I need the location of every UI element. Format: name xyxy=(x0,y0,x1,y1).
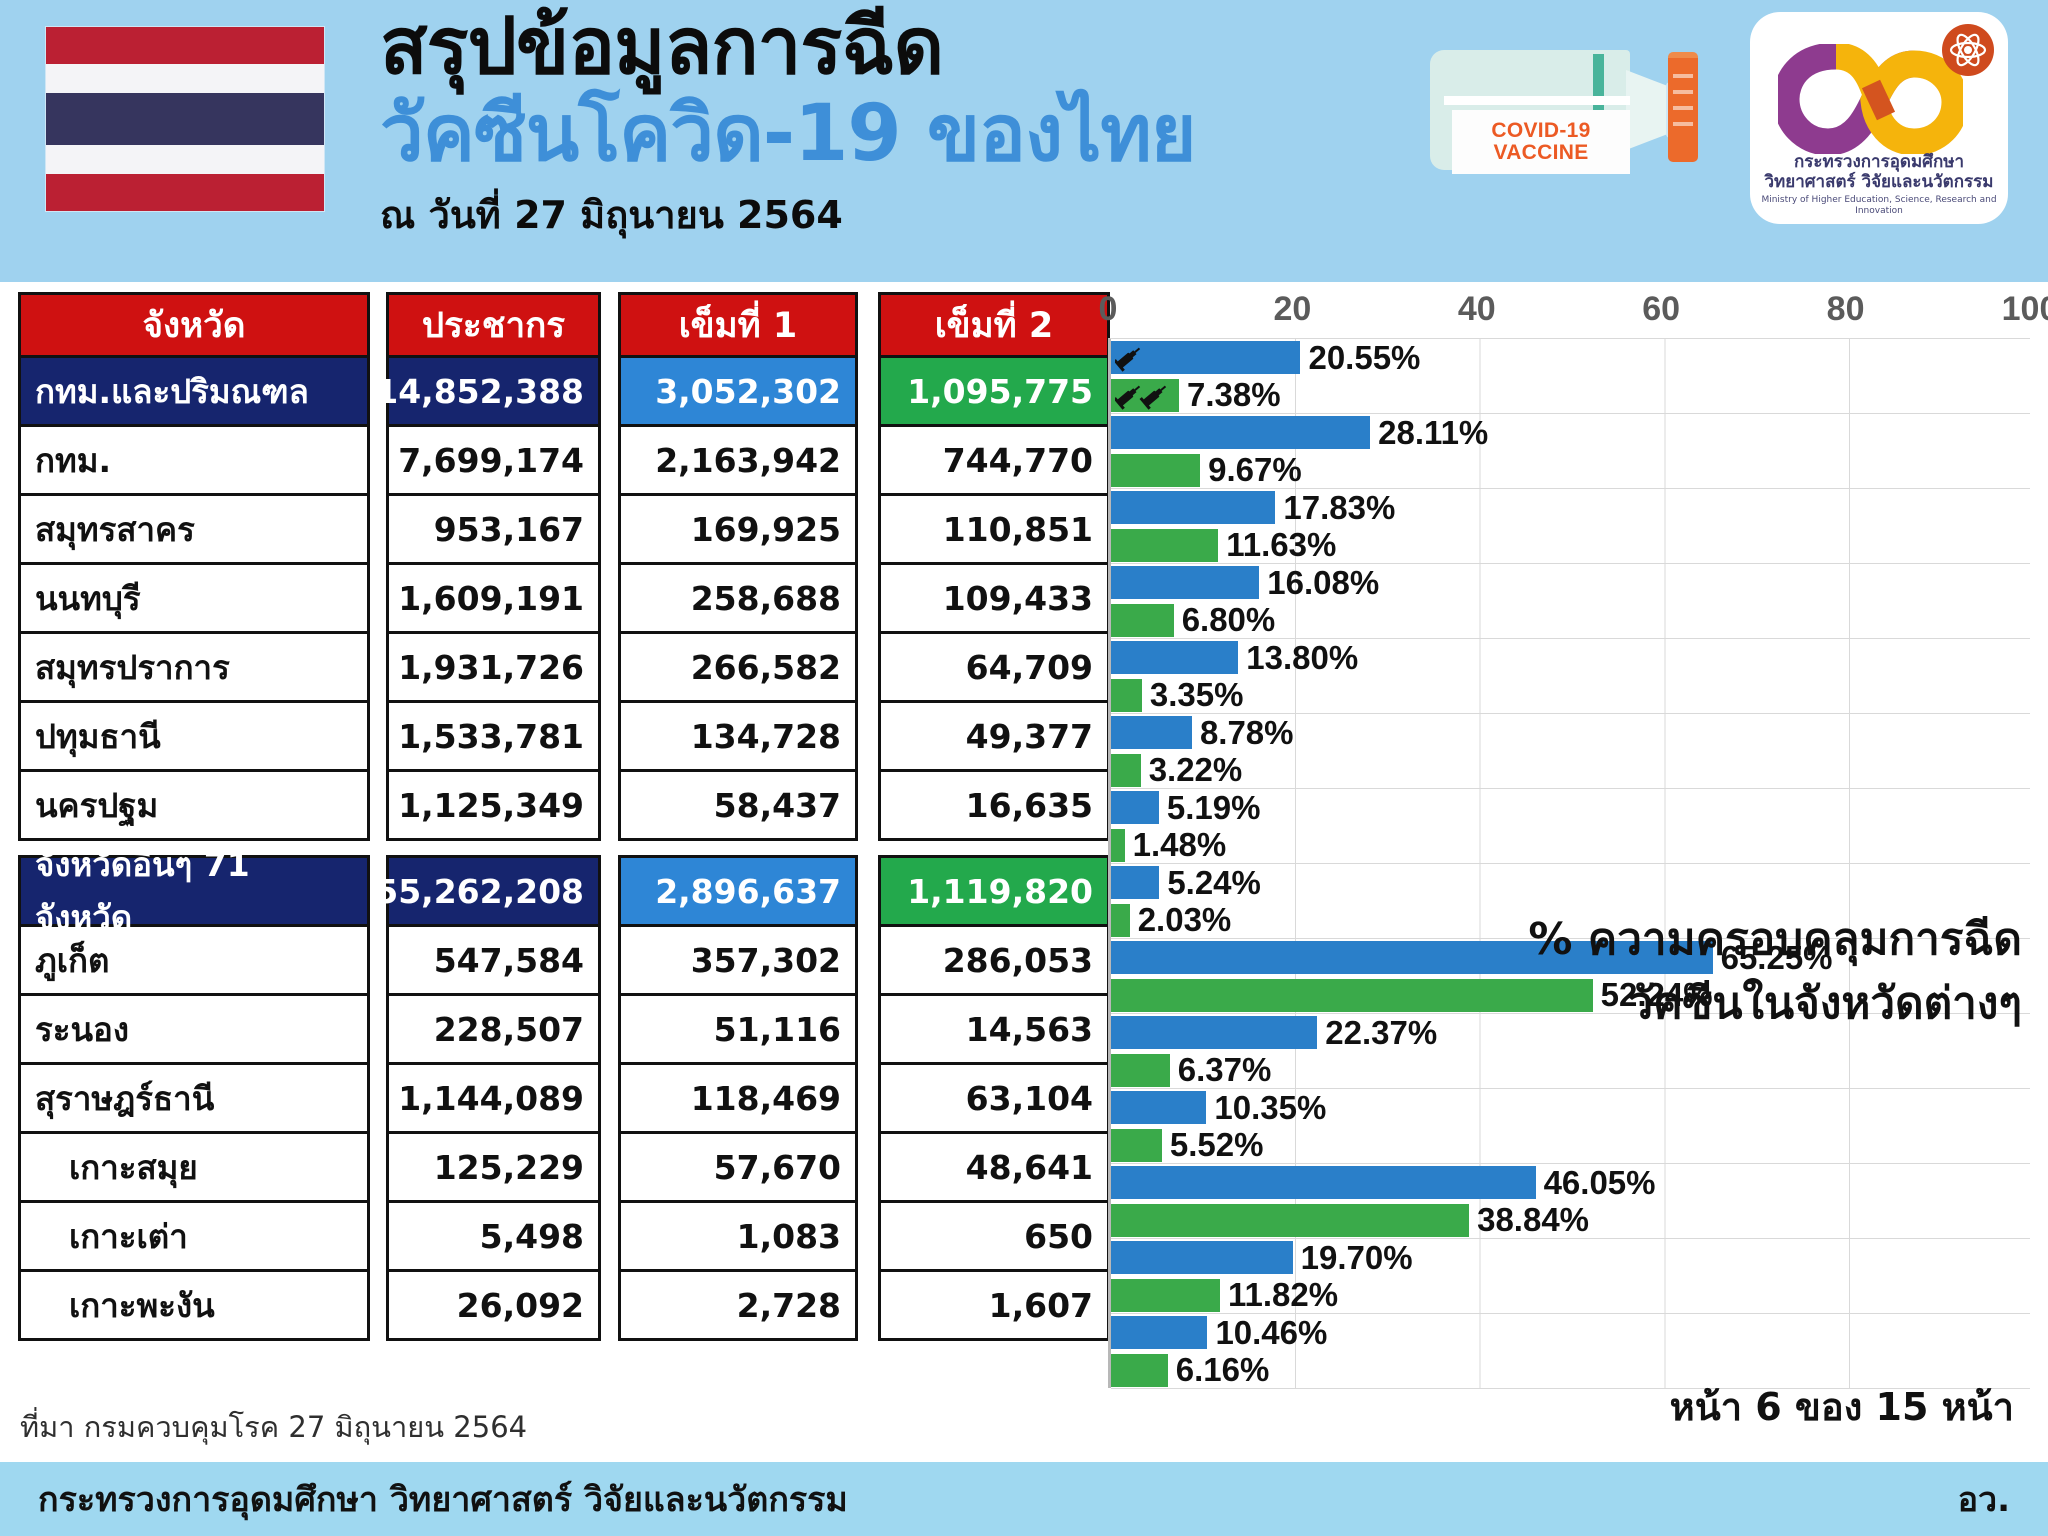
chart-bar-row: 20.55% xyxy=(1111,339,2030,377)
chart-bar-dose1 xyxy=(1111,716,1192,749)
table-row-cell: 1,144,089 xyxy=(386,1062,601,1134)
chart-bar-group: 19.70%11.82% xyxy=(1111,1239,2030,1314)
syringe-icon-double xyxy=(1115,381,1171,411)
chart-bar-group: 16.08%6.80% xyxy=(1111,564,2030,639)
table-row-cell: กทม. xyxy=(18,424,370,496)
table-row-cell: 1,607 xyxy=(878,1269,1110,1341)
chart-bar-value-label: 9.67% xyxy=(1208,451,1302,489)
table-group-header-cell: 2,896,637 xyxy=(618,855,858,927)
chart-bar-group: 17.83%11.63% xyxy=(1111,489,2030,564)
table-group-header-cell: 1,119,820 xyxy=(878,855,1110,927)
chart-bar-dose1 xyxy=(1111,1016,1317,1049)
table-group-header-cell: กทม.และปริมณฑล xyxy=(18,355,370,427)
table-row-cell: 26,092 xyxy=(386,1269,601,1341)
vial-label: COVID-19 VACCINE xyxy=(1452,110,1630,174)
chart-bar-row: 10.46% xyxy=(1111,1314,2030,1352)
chart-bar-row: 1.48% xyxy=(1111,827,2030,865)
chart-bar-value-label: 5.24% xyxy=(1167,864,1261,902)
chart-bar-row: 9.67% xyxy=(1111,452,2030,490)
chart-bar-dose2 xyxy=(1111,904,1130,937)
ministry-name-en: Ministry of Higher Education, Science, R… xyxy=(1750,195,2008,217)
chart-bar-row: 8.78% xyxy=(1111,714,2030,752)
chart-bar-value-label: 22.37% xyxy=(1325,1014,1437,1052)
table-row-cell: 953,167 xyxy=(386,493,601,565)
thai-flag-icon xyxy=(45,26,325,212)
ministry-logo: กระทรวงการอุดมศึกษา วิทยาศาสตร์ วิจัยและ… xyxy=(1750,12,2008,224)
chart-x-axis-ticks: 020406080100 xyxy=(1108,290,2030,336)
chart-x-tick-label: 40 xyxy=(1458,290,1496,329)
page-title-line2: วัคซีนโควิด-19 ของไทย xyxy=(380,92,1195,176)
chart-bar-row: 38.84% xyxy=(1111,1202,2030,1240)
table-group-header-cell: 3,052,302 xyxy=(618,355,858,427)
table-column-dose1: เข็มที่ 13,052,3022,163,942169,925258,68… xyxy=(618,292,858,1341)
table-row-cell: 2,728 xyxy=(618,1269,858,1341)
source-note: ที่มา กรมควบคุมโรค 27 มิถุนายน 2564 xyxy=(20,1404,527,1450)
atom-icon xyxy=(1942,24,1994,76)
table-row-cell: สมุทรปราการ xyxy=(18,631,370,703)
chart-bar-dose1 xyxy=(1111,1091,1206,1124)
chart-plot-area: 20.55%7.38%28.11%9.67%17.83%11.63%16.08%… xyxy=(1108,338,2030,1388)
chart-bar-value-label: 46.05% xyxy=(1544,1164,1656,1202)
chart-bar-value-label: 1.48% xyxy=(1133,826,1227,864)
table-row-cell: 48,641 xyxy=(878,1131,1110,1203)
chart-bar-value-label: 6.16% xyxy=(1176,1351,1270,1389)
chart-bar-row: 5.24% xyxy=(1111,864,2030,902)
chart-bar-row: 5.52% xyxy=(1111,1127,2030,1165)
table-row-cell: 5,498 xyxy=(386,1200,601,1272)
chart-bar-row: 11.63% xyxy=(1111,527,2030,565)
chart-bar-dose2 xyxy=(1111,454,1200,487)
chart-bar-dose1 xyxy=(1111,791,1159,824)
chart-bar-value-label: 28.11% xyxy=(1378,414,1488,452)
table-row-cell: ระนอง xyxy=(18,993,370,1065)
chart-bar-dose2 xyxy=(1111,1054,1170,1087)
chart-bar-value-label: 11.63% xyxy=(1226,526,1336,564)
vaccine-vial-icon: COVID-19 VACCINE xyxy=(1430,40,1700,175)
chart-bar-value-label: 8.78% xyxy=(1200,714,1294,752)
chart-bar-row: 17.83% xyxy=(1111,489,2030,527)
chart-bar-dose1 xyxy=(1111,1241,1293,1274)
chart-bar-group: 8.78%3.22% xyxy=(1111,714,2030,789)
chart-bar-dose2 xyxy=(1111,1354,1168,1387)
table-row-cell: 134,728 xyxy=(618,700,858,772)
table-row-cell: สุราษฎร์ธานี xyxy=(18,1062,370,1134)
vial-label-line2: VACCINE xyxy=(1493,142,1588,164)
table-row-cell: 63,104 xyxy=(878,1062,1110,1134)
table-group-header-cell: จังหวัดอื่นๆ 71 จังหวัด xyxy=(18,855,370,927)
chart-bar-dose1 xyxy=(1111,1316,1207,1349)
footer-abbrev: อว. xyxy=(1958,1472,2010,1526)
chart-bar-value-label: 16.08% xyxy=(1267,564,1379,602)
chart-bar-row: 5.19% xyxy=(1111,789,2030,827)
chart-bar-value-label: 6.37% xyxy=(1178,1051,1272,1089)
infographic-page: สรุปข้อมูลการฉีด วัคซีนโควิด-19 ของไทย ณ… xyxy=(0,0,2048,1536)
chart-bar-value-label: 5.19% xyxy=(1167,789,1261,827)
table-row-cell: 58,437 xyxy=(618,769,858,841)
table-row-cell: เกาะพะงัน xyxy=(18,1269,370,1341)
chart-bar-row: 10.35% xyxy=(1111,1089,2030,1127)
page-content: จังหวัดกทม.และปริมณฑลกทม.สมุทรสาครนนทบุร… xyxy=(0,282,2048,1450)
page-indicator: หน้า 6 ของ 15 หน้า xyxy=(1670,1376,2014,1437)
chart-bar-value-label: 2.03% xyxy=(1138,901,1232,939)
table-row-cell: ปทุมธานี xyxy=(18,700,370,772)
chart-annotation: % ความครอบคลุมการฉีด วัคซีนในจังหวัดต่าง… xyxy=(1482,908,2022,1036)
chart-bar-row: 3.35% xyxy=(1111,677,2030,715)
chart-bar-row: 16.08% xyxy=(1111,564,2030,602)
table-group-header-cell: 14,852,388 xyxy=(386,355,601,427)
table-row-cell: 650 xyxy=(878,1200,1110,1272)
mhesi-infinity-icon xyxy=(1778,44,1963,154)
table-group-header-cell: 1,095,775 xyxy=(878,355,1110,427)
chart-bar-value-label: 3.35% xyxy=(1150,676,1244,714)
chart-bar-group: 46.05%38.84% xyxy=(1111,1164,2030,1239)
chart-bar-value-label: 13.80% xyxy=(1246,639,1358,677)
chart-bar-value-label: 17.83% xyxy=(1283,489,1395,527)
chart-bar-dose2 xyxy=(1111,1129,1162,1162)
table-column-dose2: เข็มที่ 21,095,775744,770110,851109,4336… xyxy=(878,292,1110,1341)
chart-bar-value-label: 5.52% xyxy=(1170,1126,1264,1164)
chart-bar-dose2 xyxy=(1111,1204,1469,1237)
table-row-cell: เกาะเต่า xyxy=(18,1200,370,1272)
table-row-cell: 266,582 xyxy=(618,631,858,703)
chart-bar-dose2 xyxy=(1111,604,1174,637)
table-row-cell: 16,635 xyxy=(878,769,1110,841)
title-block: สรุปข้อมูลการฉีด วัคซีนโควิด-19 ของไทย ณ… xyxy=(380,8,1195,245)
table-row-cell: 2,163,942 xyxy=(618,424,858,496)
chart-bar-group: 5.19%1.48% xyxy=(1111,789,2030,864)
chart-bar-group: 20.55%7.38% xyxy=(1111,339,2030,414)
chart-bar-group: 13.80%3.35% xyxy=(1111,639,2030,714)
chart-bar-row: 19.70% xyxy=(1111,1239,2030,1277)
chart-bar-dose1 xyxy=(1111,566,1259,599)
chart-bar-value-label: 10.46% xyxy=(1215,1314,1327,1352)
table-row-cell: 57,670 xyxy=(618,1131,858,1203)
table-row-cell: 357,302 xyxy=(618,924,858,996)
table-header-cell: เข็มที่ 2 xyxy=(878,292,1110,358)
table-row-cell: เกาะสมุย xyxy=(18,1131,370,1203)
table-row-cell: 258,688 xyxy=(618,562,858,634)
chart-x-tick-label: 20 xyxy=(1273,290,1311,329)
chart-bar-value-label: 11.82% xyxy=(1228,1276,1338,1314)
chart-bar-value-label: 3.22% xyxy=(1149,751,1243,789)
chart-x-tick-label: 100 xyxy=(2002,290,2048,329)
vial-white-line xyxy=(1444,96,1630,105)
table-row-cell: 51,116 xyxy=(618,993,858,1065)
chart-bar-value-label: 38.84% xyxy=(1477,1201,1589,1239)
table-row-cell: 1,931,726 xyxy=(386,631,601,703)
footer-ministry-name: กระทรวงการอุดมศึกษา วิทยาศาสตร์ วิจัยและ… xyxy=(38,1472,848,1526)
chart-bar-value-label: 19.70% xyxy=(1301,1239,1413,1277)
chart-bar-dose1 xyxy=(1111,341,1300,374)
table-row-cell: 547,584 xyxy=(386,924,601,996)
table-group-gap xyxy=(386,841,601,855)
vial-label-line1: COVID-19 xyxy=(1491,120,1590,142)
page-footer: กระทรวงการอุดมศึกษา วิทยาศาสตร์ วิจัยและ… xyxy=(0,1462,2048,1536)
table-row-cell: 7,699,174 xyxy=(386,424,601,496)
table-row-cell: 744,770 xyxy=(878,424,1110,496)
chart-bar-value-label: 10.35% xyxy=(1214,1089,1326,1127)
table-row-cell: นครปฐม xyxy=(18,769,370,841)
table-header-cell: ประชากร xyxy=(386,292,601,358)
table-row-cell: 64,709 xyxy=(878,631,1110,703)
table-group-header-cell: 55,262,208 xyxy=(386,855,601,927)
chart-bar-dose2 xyxy=(1111,1279,1220,1312)
table-row-cell: สมุทรสาคร xyxy=(18,493,370,565)
table-header-cell: เข็มที่ 1 xyxy=(618,292,858,358)
chart-bar-dose2 xyxy=(1111,529,1218,562)
chart-bar-dose1 xyxy=(1111,416,1370,449)
chart-bar-row: 7.38% xyxy=(1111,377,2030,415)
chart-annotation-line2: วัคซีนในจังหวัดต่างๆ xyxy=(1482,972,2022,1036)
page-header: สรุปข้อมูลการฉีด วัคซีนโควิด-19 ของไทย ณ… xyxy=(0,0,2048,282)
chart-bar-dose2 xyxy=(1111,379,1179,412)
table-header-cell: จังหวัด xyxy=(18,292,370,358)
chart-bar-value-label: 6.80% xyxy=(1182,601,1276,639)
chart-bar-value-label: 7.38% xyxy=(1187,376,1281,414)
table-column-population: ประชากร14,852,3887,699,174953,1671,609,1… xyxy=(386,292,601,1341)
chart-bar-row: 3.22% xyxy=(1111,752,2030,790)
table-row-cell: 118,469 xyxy=(618,1062,858,1134)
table-row-cell: 125,229 xyxy=(386,1131,601,1203)
table-row-cell: 169,925 xyxy=(618,493,858,565)
table-group-gap xyxy=(878,841,1110,855)
chart-bar-group: 28.11%9.67% xyxy=(1111,414,2030,489)
chart-bar-dose2 xyxy=(1111,679,1142,712)
chart-bar-dose1 xyxy=(1111,866,1159,899)
chart-bar-value-label: 20.55% xyxy=(1308,339,1420,377)
chart-bar-dose1 xyxy=(1111,641,1238,674)
syringe-icon-single xyxy=(1115,343,1145,373)
coverage-bar-chart: 020406080100 20.55%7.38%28.11%9.67%17.83… xyxy=(1108,290,2030,1394)
chart-bar-row: 6.37% xyxy=(1111,1052,2030,1090)
chart-bar-row: 13.80% xyxy=(1111,639,2030,677)
chart-bar-row: 6.80% xyxy=(1111,602,2030,640)
page-title-line1: สรุปข้อมูลการฉีด xyxy=(380,8,1195,86)
table-group-gap xyxy=(618,841,858,855)
chart-bar-row: 11.82% xyxy=(1111,1277,2030,1315)
table-row-cell: 14,563 xyxy=(878,993,1110,1065)
ministry-name-th-line2: วิทยาศาสตร์ วิจัยและนวัตกรรม xyxy=(1750,172,2008,192)
table-row-cell: 110,851 xyxy=(878,493,1110,565)
chart-bar-row: 28.11% xyxy=(1111,414,2030,452)
ministry-logo-text: กระทรวงการอุดมศึกษา วิทยาศาสตร์ วิจัยและ… xyxy=(1750,152,2008,216)
chart-annotation-line1: % ความครอบคลุมการฉีด xyxy=(1482,908,2022,972)
chart-bar-row: 46.05% xyxy=(1111,1164,2030,1202)
table-row-cell: 286,053 xyxy=(878,924,1110,996)
report-date: ณ วันที่ 27 มิถุนายน 2564 xyxy=(380,184,1195,245)
table-row-cell: 49,377 xyxy=(878,700,1110,772)
chart-x-tick-label: 0 xyxy=(1099,290,1118,329)
chart-bar-dose2 xyxy=(1111,829,1125,862)
chart-x-tick-label: 60 xyxy=(1642,290,1680,329)
table-row-cell: 1,125,349 xyxy=(386,769,601,841)
chart-bar-dose2 xyxy=(1111,754,1141,787)
table-column-province: จังหวัดกทม.และปริมณฑลกทม.สมุทรสาครนนทบุร… xyxy=(18,292,370,1341)
table-row-cell: 1,533,781 xyxy=(386,700,601,772)
table-row-cell: 109,433 xyxy=(878,562,1110,634)
vial-plunger-icon xyxy=(1668,52,1698,162)
table-row-cell: 228,507 xyxy=(386,993,601,1065)
chart-bar-dose1 xyxy=(1111,491,1275,524)
ministry-name-th-line1: กระทรวงการอุดมศึกษา xyxy=(1750,152,2008,172)
table-row-cell: นนทบุรี xyxy=(18,562,370,634)
table-row-cell: 1,083 xyxy=(618,1200,858,1272)
chart-bar-dose1 xyxy=(1111,1166,1536,1199)
chart-bar-group: 10.35%5.52% xyxy=(1111,1089,2030,1164)
table-row-cell: 1,609,191 xyxy=(386,562,601,634)
chart-x-tick-label: 80 xyxy=(1827,290,1865,329)
